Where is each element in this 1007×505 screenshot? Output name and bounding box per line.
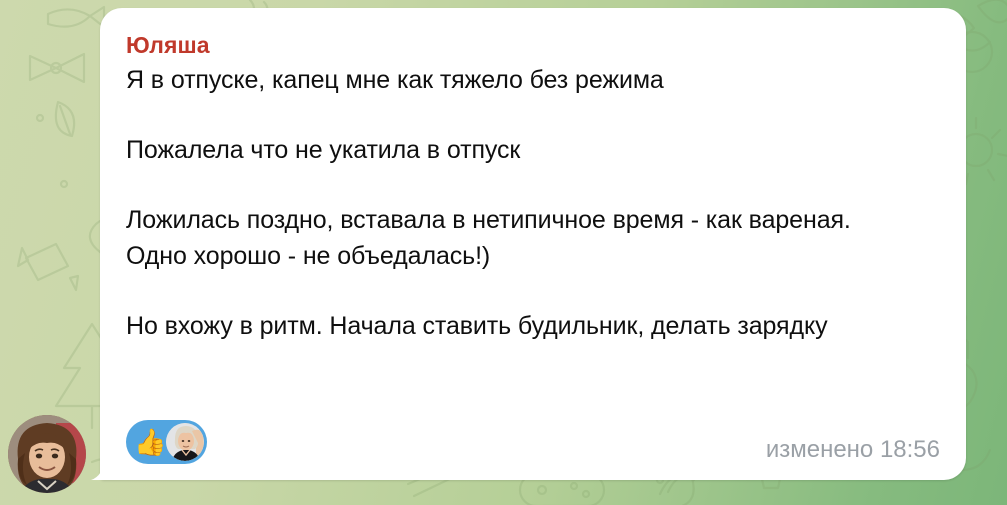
message-paragraph-4: Но вхожу в ритм. Начала ставить будильни… <box>126 308 916 344</box>
chat-screen: Юляша Я в отпуске, капец мне как тяжело … <box>0 0 1007 505</box>
reactor-avatar[interactable] <box>166 423 204 461</box>
thumbs-up-icon[interactable]: 👍 <box>134 429 164 455</box>
avatar[interactable] <box>8 415 86 493</box>
sender-avatar-photo <box>8 415 86 493</box>
message-timestamp: изменено 18:56 <box>766 436 940 464</box>
reaction-badge[interactable]: 👍 <box>126 420 207 464</box>
message-paragraph-1: Я в отпуске, капец мне как тяжело без ре… <box>126 62 916 98</box>
reactor-avatar-photo <box>166 423 204 461</box>
message-paragraph-3: Ложилась поздно, вставала в нетипичное в… <box>126 202 916 274</box>
message-bubble[interactable]: Юляша Я в отпуске, капец мне как тяжело … <box>100 8 966 480</box>
message-paragraph-2: Пожалела что не укатила в отпуск <box>126 132 916 168</box>
message-row: Юляша Я в отпуске, капец мне как тяжело … <box>0 0 1007 505</box>
sender-name[interactable]: Юляша <box>126 32 940 58</box>
bubble-footer: 👍 <box>126 420 940 466</box>
